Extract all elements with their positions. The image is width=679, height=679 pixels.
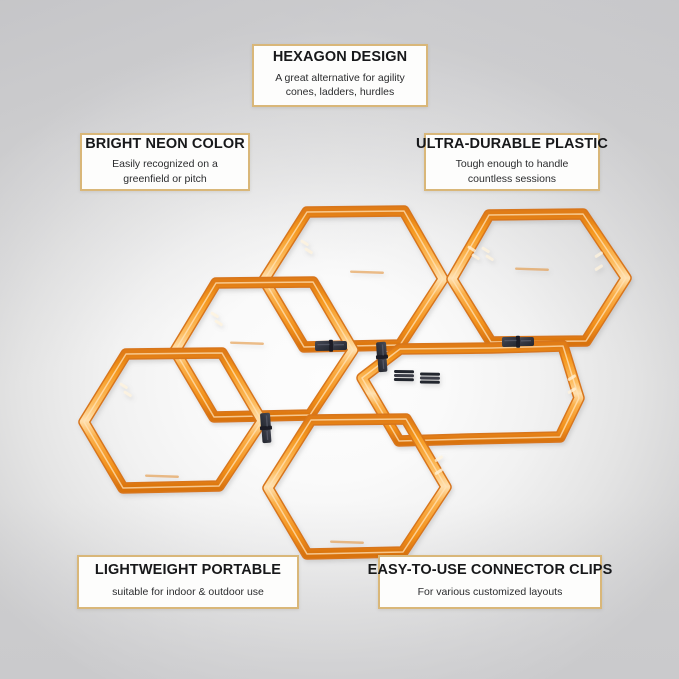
callout-bright-neon-color: BRIGHT NEON COLOR Easily recognized on a…: [80, 133, 250, 191]
callout-title: HEXAGON DESIGN: [273, 49, 407, 66]
hexagon-ring-1: [264, 211, 443, 347]
callout-subtitle: suitable for indoor & outdoor use: [112, 585, 264, 599]
callout-subtitle-line2: countless sessions: [456, 172, 569, 186]
callout-easy-to-use-connector-clips: EASY-TO-USE CONNECTOR CLIPS For various …: [378, 555, 602, 609]
callout-ultra-durable-plastic: ULTRA-DURABLE PLASTIC Tough enough to ha…: [424, 133, 600, 191]
callout-subtitle: Tough enough to handle countless session…: [456, 157, 569, 186]
hexagon-ring-4: [362, 346, 579, 441]
callout-title: LIGHTWEIGHT PORTABLE: [95, 562, 281, 579]
hexagon-ring-group: [84, 211, 626, 554]
callout-title: ULTRA-DURABLE PLASTIC: [416, 136, 608, 153]
hinge-notches: [119, 239, 603, 544]
connector-clip-3: [375, 342, 389, 373]
callout-hexagon-design: HEXAGON DESIGN A great alternative for a…: [252, 44, 428, 107]
callout-subtitle-line1: A great alternative for agility: [275, 71, 405, 85]
callout-subtitle: For various customized layouts: [418, 585, 563, 599]
connector-clip-5: [394, 370, 440, 384]
connector-clip-1: [315, 339, 347, 352]
callout-title: BRIGHT NEON COLOR: [85, 136, 245, 153]
callout-subtitle-line1: suitable for indoor & outdoor use: [112, 585, 264, 599]
connector-clips: [259, 335, 534, 443]
hexagon-ring-5: [84, 353, 262, 488]
callout-subtitle-line2: greenfield or pitch: [112, 172, 218, 186]
hexagon-ring-2: [452, 214, 626, 342]
callout-subtitle: A great alternative for agility cones, l…: [275, 71, 405, 100]
hexagon-ring-3: [175, 282, 353, 417]
connector-clip-2: [502, 335, 534, 348]
callout-subtitle-line1: Easily recognized on a: [112, 157, 218, 171]
hexagon-ring-6: [268, 419, 446, 554]
callout-subtitle-line1: For various customized layouts: [418, 585, 563, 599]
infographic-canvas: HEXAGON DESIGN A great alternative for a…: [0, 0, 679, 679]
callout-title: EASY-TO-USE CONNECTOR CLIPS: [368, 562, 613, 579]
connector-clip-4: [259, 413, 273, 444]
callout-subtitle-line2: cones, ladders, hurdles: [275, 85, 405, 99]
callout-lightweight-portable: LIGHTWEIGHT PORTABLE suitable for indoor…: [77, 555, 299, 609]
callout-subtitle: Easily recognized on a greenfield or pit…: [112, 157, 218, 186]
callout-subtitle-line1: Tough enough to handle: [456, 157, 569, 171]
